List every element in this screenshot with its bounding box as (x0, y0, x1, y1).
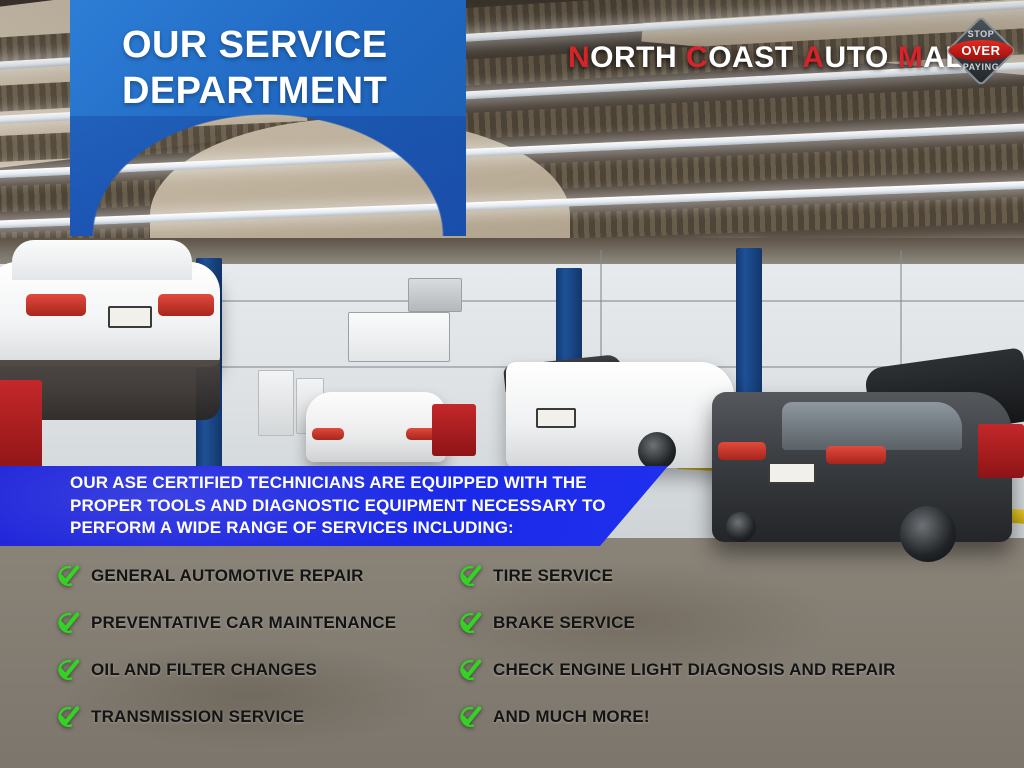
list-item: AND MUCH MORE! (458, 693, 1018, 740)
service-label: OIL AND FILTER CHANGES (91, 660, 317, 680)
brand-logo[interactable]: NORTH COAST AUTO MALL STOP OVER PAYING (568, 30, 1024, 86)
badge-top-word: STOP (948, 29, 1014, 39)
service-department-banner: OUR SERVICE DEPARTMENT NORTH COAST AUTO … (0, 0, 1024, 768)
logo-cap-c: C (686, 41, 708, 74)
badge-oval: OVER (949, 40, 1013, 61)
check-icon (56, 705, 80, 729)
list-item: OIL AND FILTER CHANGES (56, 646, 476, 693)
logo-cap-m: M (898, 41, 924, 74)
logo-space (677, 41, 686, 74)
statement-banner-text: OUR ASE CERTIFIED TECHNICIANS ARE EQUIPP… (70, 472, 630, 540)
check-icon (56, 611, 80, 635)
check-icon (458, 658, 482, 682)
services-column-left: GENERAL AUTOMOTIVE REPAIR PREVENTATIVE C… (56, 552, 476, 740)
list-item: GENERAL AUTOMOTIVE REPAIR (56, 552, 476, 599)
service-label: TRANSMISSION SERVICE (91, 707, 304, 727)
badge-middle-word: OVER (961, 43, 1000, 58)
logo-rest-uto: UTO (825, 41, 889, 74)
list-item: BRAKE SERVICE (458, 599, 1018, 646)
service-label: PREVENTATIVE CAR MAINTENANCE (91, 613, 396, 633)
check-icon (458, 705, 482, 729)
check-icon (56, 564, 80, 588)
statement-line1: OUR ASE CERTIFIED TECHNICIANS ARE EQUIPP… (70, 472, 630, 495)
check-icon (458, 564, 482, 588)
logo-space (889, 41, 898, 74)
logo-rest-orth: ORTH (590, 41, 677, 74)
services-list: GENERAL AUTOMOTIVE REPAIR PREVENTATIVE C… (0, 552, 1024, 742)
header-panel-lower-wash (70, 116, 466, 236)
service-label: CHECK ENGINE LIGHT DIAGNOSIS AND REPAIR (493, 660, 896, 680)
list-item: TRANSMISSION SERVICE (56, 693, 476, 740)
statement-line2: PROPER TOOLS AND DIAGNOSTIC EQUIPMENT NE… (70, 495, 630, 518)
stop-over-paying-badge: STOP OVER PAYING (948, 18, 1014, 84)
logo-rest-oast: OAST (708, 41, 793, 74)
logo-cap-a: A (802, 41, 824, 74)
list-item: CHECK ENGINE LIGHT DIAGNOSIS AND REPAIR (458, 646, 1018, 693)
statement-line3: PERFORM A WIDE RANGE OF SERVICES INCLUDI… (70, 517, 630, 540)
page-title-line1: OUR SERVICE (122, 22, 462, 68)
page-title: OUR SERVICE DEPARTMENT (122, 22, 462, 114)
check-icon (56, 658, 80, 682)
services-column-right: TIRE SERVICE BRAKE SERVICE (458, 552, 1018, 740)
service-label: TIRE SERVICE (493, 566, 613, 586)
service-label: GENERAL AUTOMOTIVE REPAIR (91, 566, 364, 586)
badge-bottom-word: PAYING (948, 62, 1014, 72)
logo-cap-n: N (568, 41, 590, 74)
list-item: TIRE SERVICE (458, 552, 1018, 599)
check-icon (458, 611, 482, 635)
page-title-line2: DEPARTMENT (122, 68, 462, 114)
service-label: BRAKE SERVICE (493, 613, 635, 633)
brand-logo-text: NORTH COAST AUTO MALL (568, 41, 983, 75)
list-item: PREVENTATIVE CAR MAINTENANCE (56, 599, 476, 646)
service-label: AND MUCH MORE! (493, 707, 650, 727)
